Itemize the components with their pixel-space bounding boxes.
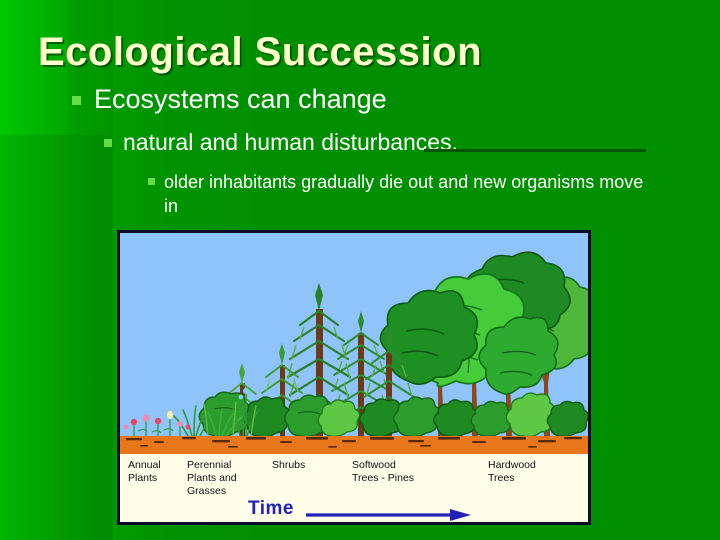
shrub	[244, 397, 290, 437]
succession-scene	[120, 233, 588, 444]
stage-label-hardwood-trees: Hardwood Trees	[488, 459, 536, 485]
background-panel-vertical-stripe	[68, 0, 114, 540]
bullet-level-2-label: natural and human disturbances.	[123, 129, 458, 156]
bullet-level-2: natural and human disturbances.	[104, 129, 458, 156]
annual-flowers	[123, 411, 190, 436]
stage-label-annual-plants: Annual Plants	[128, 459, 161, 485]
stage-label-shrubs: Shrubs	[272, 459, 305, 472]
shrub-row	[199, 392, 588, 437]
soil-debris	[120, 436, 588, 454]
shrub-light	[318, 400, 359, 436]
sky-background	[120, 233, 588, 444]
soil-band	[120, 436, 588, 454]
time-arrow-icon	[306, 509, 471, 521]
square-bullet-icon	[148, 178, 155, 185]
stage-label-perennial-plants: Perennial Plants and Grasses	[187, 459, 237, 498]
ecological-succession-image: Annual Plants Perennial Plants and Grass…	[117, 230, 591, 525]
time-axis-label: Time	[248, 498, 294, 520]
shrub	[394, 397, 440, 437]
background-panel-inner	[0, 135, 70, 540]
bullet-level-1: Ecosystems can change	[72, 84, 387, 115]
shrub-light-right	[506, 393, 555, 436]
bullet-level-3-label: older inhabitants gradually die out and …	[164, 170, 648, 219]
bullet-level-1-label: Ecosystems can change	[94, 84, 387, 115]
page-title: Ecological Succession	[38, 30, 678, 75]
figure-caption-area: Annual Plants Perennial Plants and Grass…	[120, 454, 588, 524]
square-bullet-icon	[104, 139, 112, 147]
slide-canvas: Ecological Succession Ecosystems can cha…	[0, 0, 720, 540]
stage-label-softwood-trees: Softwood Trees - Pines	[352, 459, 414, 485]
shrub	[547, 401, 588, 436]
bullet-level-3: older inhabitants gradually die out and …	[148, 170, 648, 219]
square-bullet-icon	[72, 96, 81, 105]
horizontal-rule	[424, 149, 646, 152]
